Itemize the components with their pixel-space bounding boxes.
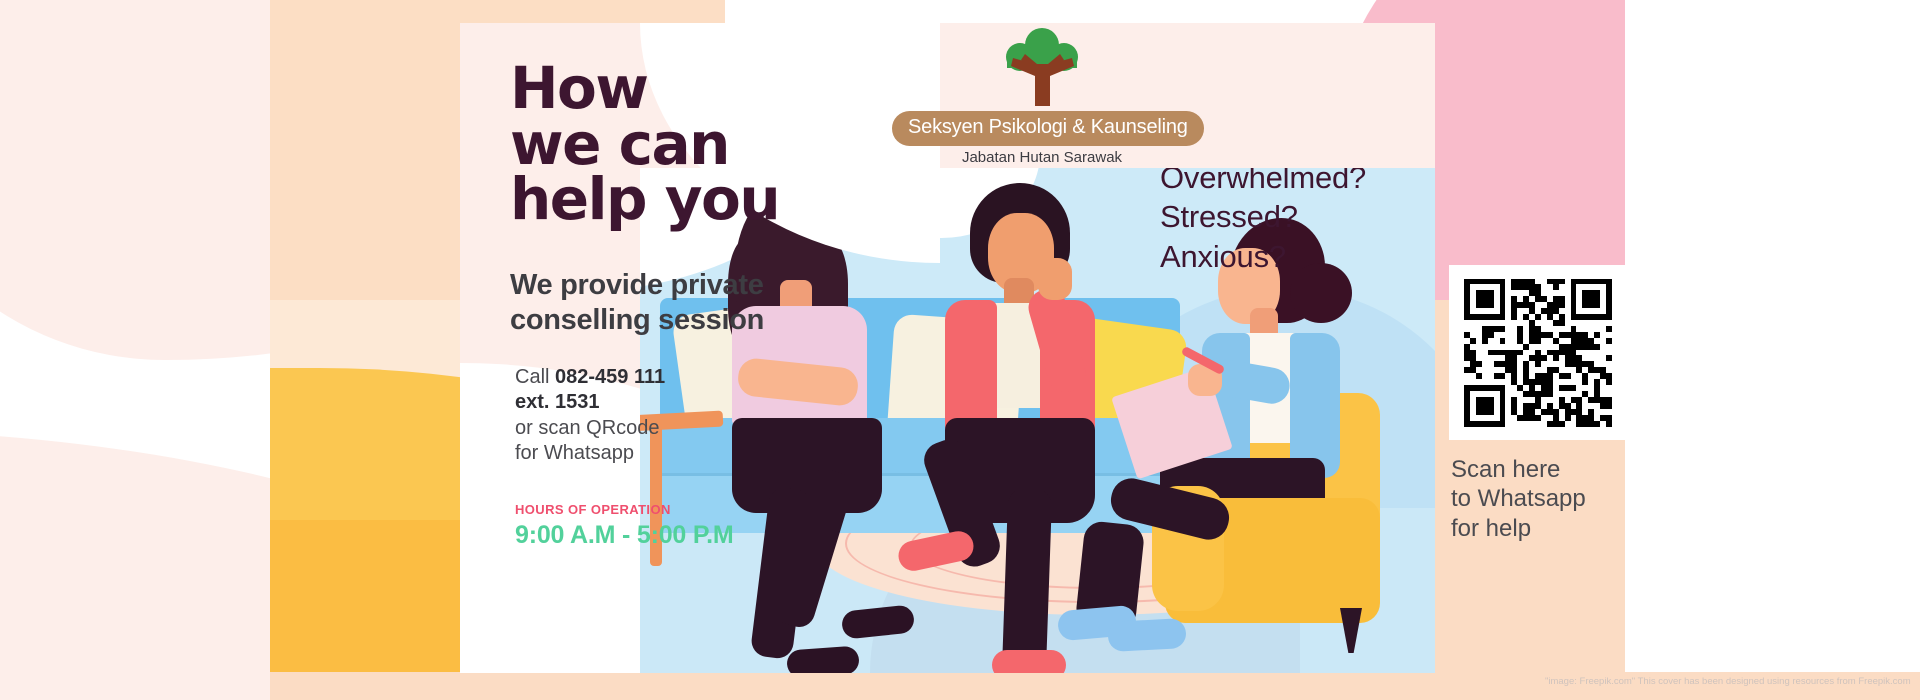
white-strip-far-right xyxy=(1625,0,1920,700)
qr-code-grid xyxy=(1464,279,1612,427)
tree-icon xyxy=(997,28,1087,106)
contact-phone-line: Call 082-459 111 xyxy=(515,365,840,391)
man-hand xyxy=(1038,258,1072,300)
contact-extension-line: ext. 1531 xyxy=(515,390,840,416)
question-line-3: Anxious? xyxy=(1160,237,1366,276)
man-shoe-standing xyxy=(992,650,1066,673)
qr-code[interactable] xyxy=(1449,265,1627,440)
subheadline-line-1: We provide private xyxy=(510,268,840,303)
image-credit: "image: Freepik.com" This cover has been… xyxy=(1545,676,1911,687)
question-line-1: Overwhelmed? xyxy=(1160,168,1366,197)
phone-number[interactable]: 082-459 111 xyxy=(555,366,665,388)
call-prefix-label: Call xyxy=(515,366,555,388)
question-line-2: Stressed? xyxy=(1160,197,1366,236)
contact-block: Call 082-459 111 ext. 1531 or scan QRcod… xyxy=(515,365,840,467)
contact-line-3: or scan QRcode xyxy=(515,416,840,442)
phone-extension: ext. 1531 xyxy=(515,391,600,413)
subheadline-line-2: conselling session xyxy=(510,303,840,338)
qr-caption: Scan here to Whatsapp for help xyxy=(1451,455,1631,543)
qr-caption-line-2: to Whatsapp xyxy=(1451,484,1631,513)
man-leg-standing xyxy=(1002,487,1053,673)
organization-logo: Seksyen Psikologi & Kaunseling Jabatan H… xyxy=(892,28,1192,166)
page-title: How we can help you xyxy=(510,61,840,228)
contact-line-4: for Whatsapp xyxy=(515,441,840,467)
woman-shoe-back xyxy=(786,646,860,673)
hours-value: 9:00 A.M - 5:00 P.M xyxy=(515,521,840,550)
qr-caption-line-3: for help xyxy=(1451,514,1631,543)
qr-panel: Scan here to Whatsapp for help xyxy=(1435,0,1625,700)
counselor-shoe-front xyxy=(1107,618,1186,652)
counselor-cardigan-back xyxy=(1290,333,1340,478)
subheadline: We provide private conselling session xyxy=(510,268,840,338)
logo-organization-name: Seksyen Psikologi & Kaunseling xyxy=(892,111,1204,146)
poster-card: Overwhelmed? Stressed? Anxious? Seksyen … xyxy=(460,23,1435,673)
logo-department-name: Jabatan Hutan Sarawak xyxy=(892,149,1192,166)
headline-line-3: help you xyxy=(510,165,779,233)
hours-label: HOURS OF OPERATION xyxy=(515,502,840,517)
text-column: How we can help you We provide private c… xyxy=(510,61,840,550)
qr-caption-line-1: Scan here xyxy=(1451,455,1631,484)
poster-canvas: Overwhelmed? Stressed? Anxious? Seksyen … xyxy=(0,0,1920,700)
question-text-group: Overwhelmed? Stressed? Anxious? xyxy=(1160,168,1366,276)
